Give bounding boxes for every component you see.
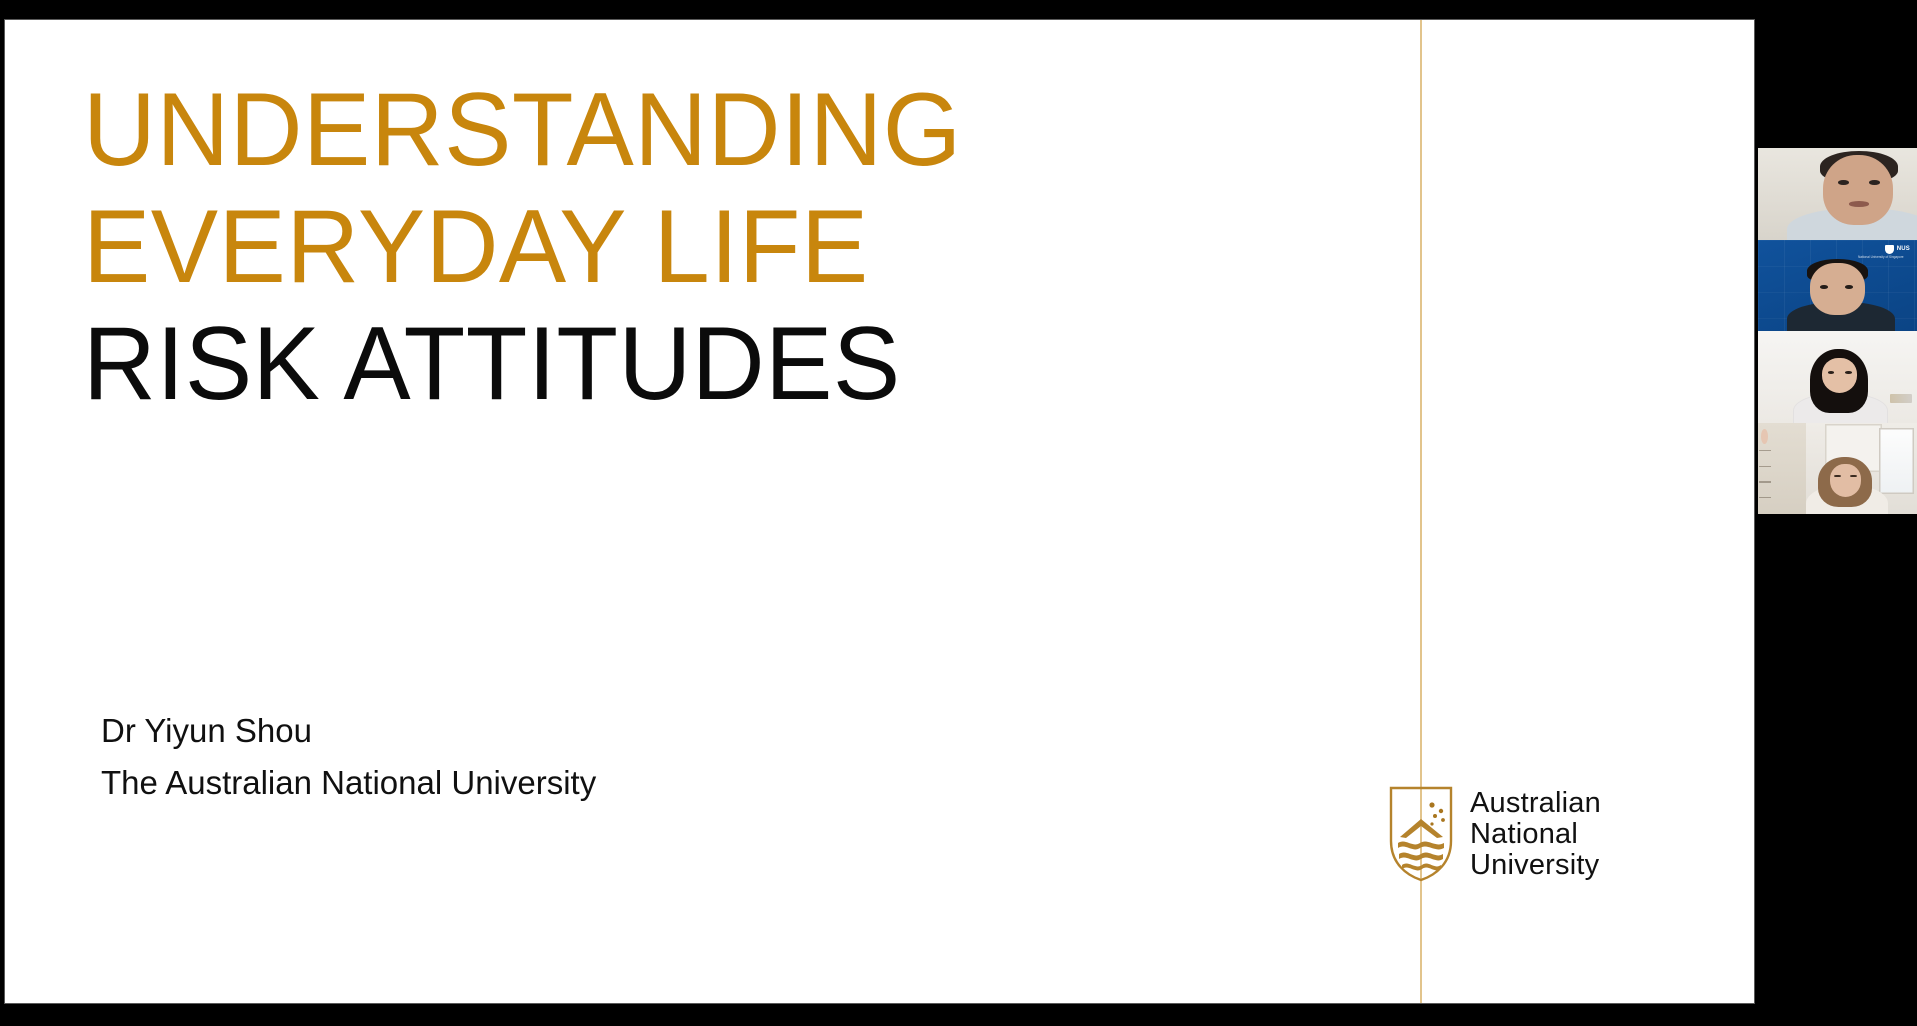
- tile-3-eye-right: [1845, 371, 1851, 374]
- anu-shield-icon: [1388, 785, 1454, 883]
- slide-title: UNDERSTANDING EVERYDAY LIFE RISK ATTITUD…: [83, 72, 1333, 423]
- participant-tile-1[interactable]: [1758, 148, 1917, 240]
- tile-2-background: NUS National University of Singapore: [1758, 240, 1917, 332]
- participant-filmstrip[interactable]: NUS National University of Singapore: [1758, 148, 1917, 514]
- tile-2-head: [1810, 263, 1864, 314]
- shared-slide[interactable]: UNDERSTANDING EVERYDAY LIFE RISK ATTITUD…: [5, 20, 1754, 1003]
- anu-logo: Australian National University: [1388, 785, 1601, 883]
- tile-3-face: [1822, 358, 1857, 393]
- nus-crest-icon: [1885, 245, 1894, 254]
- tile-4-shelf-line: [1759, 481, 1770, 483]
- title-line-2: EVERYDAY LIFE: [83, 189, 1296, 306]
- tile-4-face: [1830, 464, 1862, 497]
- tile-4-shelf-line: [1759, 450, 1770, 452]
- participant-tile-2[interactable]: NUS National University of Singapore: [1758, 240, 1917, 332]
- tile-4-shelf-line: [1759, 466, 1770, 468]
- title-line-3: RISK ATTITUDES: [83, 306, 1296, 423]
- tile-4-shelf-unit: [1758, 423, 1806, 515]
- tile-3-background: [1758, 331, 1917, 423]
- tile-3-corner-logo: [1890, 394, 1912, 403]
- tile-1-eye-left: [1838, 180, 1849, 185]
- tile-1-eye-right: [1869, 180, 1880, 185]
- tile-1-mouth: [1849, 201, 1870, 206]
- participant-tile-3[interactable]: [1758, 331, 1917, 423]
- title-line-1: UNDERSTANDING: [83, 72, 1296, 189]
- nus-logo-text: NUS: [1897, 246, 1910, 252]
- tile-1-head: [1823, 155, 1893, 225]
- participant-tile-4[interactable]: [1758, 423, 1917, 515]
- screen-share-viewport: UNDERSTANDING EVERYDAY LIFE RISK ATTITUD…: [0, 0, 1917, 1026]
- tile-4-background: [1758, 423, 1917, 515]
- presenter-name: Dr Yiyun Shou: [101, 705, 596, 757]
- tile-4-window: [1879, 428, 1914, 494]
- anu-wordmark-line-2: National: [1470, 819, 1601, 850]
- anu-wordmark-line-3: University: [1470, 850, 1601, 881]
- anu-wordmark-line-1: Australian: [1470, 788, 1601, 819]
- tile-2-eye-left: [1820, 285, 1828, 289]
- anu-wordmark: Australian National University: [1470, 788, 1601, 881]
- nus-logo-subtext: National University of Singapore: [1858, 255, 1910, 259]
- tile-1-background: [1758, 148, 1917, 240]
- tile-4-wall-decor: [1761, 429, 1769, 445]
- tile-4-shelf-line: [1759, 497, 1770, 499]
- presenter-block: Dr Yiyun Shou The Australian National Un…: [101, 705, 596, 809]
- nus-logo: NUS: [1885, 245, 1910, 254]
- presenter-affiliation: The Australian National University: [101, 757, 596, 809]
